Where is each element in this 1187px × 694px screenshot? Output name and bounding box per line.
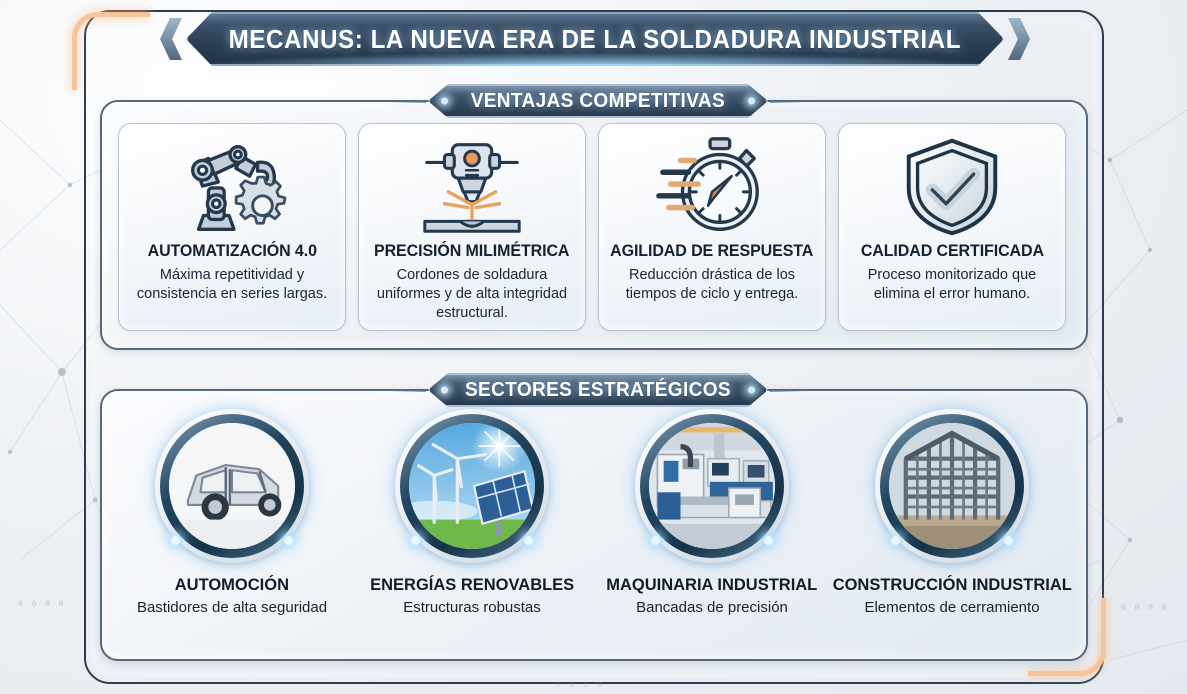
section-header-advantages: VENTAJAS COMPETITIVAS	[428, 84, 768, 118]
ring-spark-left-icon	[891, 536, 900, 545]
section-plate: SECTORES ESTRATÉGICOS	[428, 373, 768, 407]
section-header-sectors: SECTORES ESTRATÉGICOS	[428, 373, 768, 407]
watermark-bottom: 0 0 1 0	[556, 681, 604, 690]
sector-item[interactable]: AUTOMOCIÓN Bastidores de alta seguridad	[118, 409, 346, 616]
ring-spark-left-icon	[651, 536, 660, 545]
section-title: SECTORES ESTRATÉGICOS	[465, 379, 731, 402]
infographic-root: MECANUS: LA NUEVA ERA DE LA SOLDADURA IN…	[0, 0, 1187, 694]
section-dot-left-icon	[441, 387, 448, 394]
advantage-card[interactable]: CALIDAD CERTIFICADA Proceso monitorizado…	[838, 123, 1066, 331]
wind-turbines-solar-panel-photo	[409, 423, 535, 549]
title-plate: MECANUS: LA NUEVA ERA DE LA SOLDADURA IN…	[186, 12, 1004, 66]
sector-item[interactable]: ENERGÍAS RENOVABLES Estructuras robustas	[358, 409, 586, 616]
section-dot-right-icon	[748, 387, 755, 394]
ring-spark-right-icon	[1004, 536, 1013, 545]
shield-check-icon	[893, 134, 1011, 238]
sector-ring	[880, 414, 1024, 558]
advantage-desc: Máxima repetitividad y consistencia en s…	[119, 266, 345, 304]
advantage-desc: Cordones de soldadura uniformes y de alt…	[359, 266, 585, 323]
sector-medallion	[155, 409, 309, 563]
advantage-desc: Proceso monitorizado que elimina el erro…	[839, 266, 1065, 304]
sector-desc: Bancadas de precisión	[636, 599, 788, 616]
sectors-panel: AUTOMOCIÓN Bastidores de alta seguridad	[100, 389, 1088, 661]
ring-spark-right-icon	[764, 536, 773, 545]
sector-ring	[160, 414, 304, 558]
welding-laser-head-icon	[413, 134, 531, 238]
sector-desc: Estructuras robustas	[403, 599, 541, 616]
robot-arm-gear-icon	[173, 134, 291, 238]
watermark-left: 0 0 0 0	[18, 600, 66, 609]
sector-medallion	[875, 409, 1029, 563]
steel-frame-building-photo	[889, 423, 1015, 549]
section-rule-left	[390, 101, 426, 103]
ring-spark-left-icon	[171, 536, 180, 545]
section-rule-right	[770, 101, 806, 103]
advantage-title: CALIDAD CERTIFICADA	[860, 242, 1043, 261]
sector-desc: Elementos de cerramiento	[864, 599, 1039, 616]
advantages-panel: AUTOMATIZACIÓN 4.0 Máxima repetitividad …	[100, 100, 1088, 350]
section-dot-left-icon	[441, 98, 448, 105]
section-rule-left	[390, 390, 426, 392]
advantage-card[interactable]: AGILIDAD DE RESPUESTA Reducción drástica…	[598, 123, 826, 331]
stopwatch-speed-icon	[653, 134, 771, 238]
advantage-title: AUTOMATIZACIÓN 4.0	[147, 242, 316, 261]
advantage-card[interactable]: AUTOMATIZACIÓN 4.0 Máxima repetitividad …	[118, 123, 346, 331]
section-dot-right-icon	[748, 98, 755, 105]
sector-item[interactable]: MAQUINARIA INDUSTRIAL Bancadas de precis…	[598, 409, 826, 616]
sector-ring	[640, 414, 784, 558]
section-title: VENTAJAS COMPETITIVAS	[471, 90, 725, 113]
section-plate: VENTAJAS COMPETITIVAS	[428, 84, 768, 118]
advantage-desc: Reducción drástica de los tiempos de cic…	[599, 266, 825, 304]
sector-ring	[400, 414, 544, 558]
sector-item[interactable]: CONSTRUCCIÓN INDUSTRIAL Elementos de cer…	[838, 409, 1066, 616]
ring-spark-right-icon	[524, 536, 533, 545]
sector-title: CONSTRUCCIÓN INDUSTRIAL	[832, 575, 1071, 595]
advantage-title: AGILIDAD DE RESPUESTA	[610, 242, 813, 261]
watermark-right: 0 0 0 0	[1121, 604, 1169, 613]
sector-title: MAQUINARIA INDUSTRIAL	[606, 575, 817, 595]
cnc-machine-shop-photo	[649, 423, 775, 549]
sector-medallion	[635, 409, 789, 563]
ring-spark-left-icon	[411, 536, 420, 545]
section-rule-right	[770, 390, 806, 392]
ring-spark-right-icon	[284, 536, 293, 545]
car-chassis-photo	[169, 423, 295, 549]
advantage-title: PRECISIÓN MILIMÉTRICA	[374, 242, 569, 261]
sector-medallion	[395, 409, 549, 563]
advantage-card[interactable]: PRECISIÓN MILIMÉTRICA Cordones de soldad…	[358, 123, 586, 331]
sector-desc: Bastidores de alta seguridad	[137, 599, 327, 616]
page-title: MECANUS: LA NUEVA ERA DE LA SOLDADURA IN…	[229, 24, 961, 55]
sector-title: ENERGÍAS RENOVABLES	[370, 575, 574, 595]
sector-title: AUTOMOCIÓN	[175, 575, 289, 595]
title-banner: MECANUS: LA NUEVA ERA DE LA SOLDADURA IN…	[186, 12, 1004, 66]
